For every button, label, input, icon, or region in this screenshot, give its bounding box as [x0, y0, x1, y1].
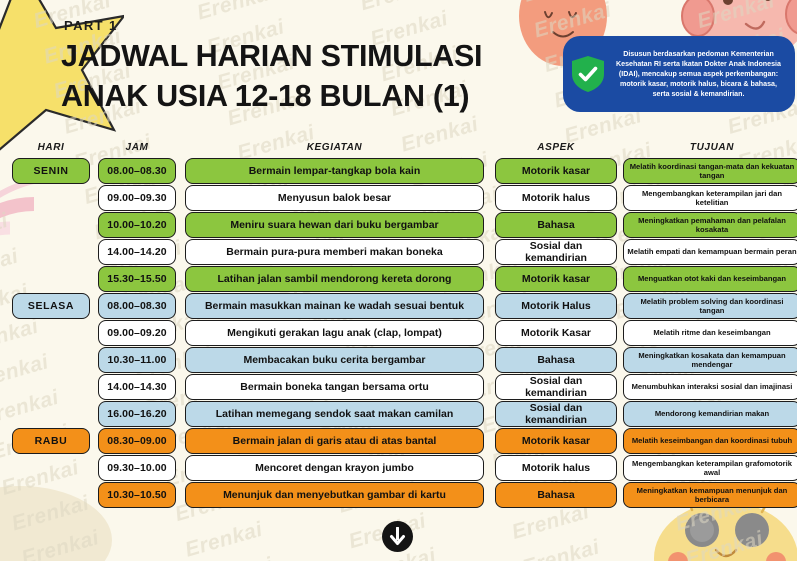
- aspect-cell: Motorik kasar: [495, 266, 617, 292]
- aspect-pill[interactable]: Motorik halus: [495, 455, 617, 481]
- aspect-cell: Sosial dan kemandirian: [495, 374, 617, 400]
- goal-text: Melatih ritme dan keseimbangan: [653, 328, 770, 337]
- table-body: SENIN08.00–08.30Bermain lempar-tangkap b…: [0, 158, 797, 508]
- page-title: JADWAL HARIAN STIMULASI ANAK USIA 12-18 …: [61, 36, 581, 117]
- time-text: 09.30–10.00: [107, 462, 167, 474]
- aspect-cell: Motorik kasar: [495, 158, 617, 184]
- time-cell: 10.00–10.20: [98, 212, 176, 238]
- aspect-cell: Bahasa: [495, 482, 617, 508]
- day-pill: [12, 482, 90, 508]
- time-cell: 09.00–09.30: [98, 185, 176, 211]
- goal-cell: Mengembangkan keterampilan grafomotorik …: [623, 455, 797, 481]
- poster-canvas: ErenkaiErenkaiErenkaiErenkaiErenkaiErenk…: [0, 0, 797, 561]
- goal-text: Meningkatkan kemampuan menunjuk dan berb…: [627, 486, 797, 504]
- time-pill[interactable]: 08.00–08.30: [98, 158, 176, 184]
- time-pill[interactable]: 10.30–11.00: [98, 347, 176, 373]
- activity-cell: Bermain boneka tangan bersama ortu: [185, 374, 484, 400]
- aspect-pill[interactable]: Bahasa: [495, 482, 617, 508]
- table-header-row: HARI JAM KEGIATAN ASPEK TUJUAN: [0, 136, 797, 158]
- table-row: 09.30–10.00Mencoret dengan krayon jumboM…: [0, 455, 797, 481]
- day-cell: [12, 401, 90, 427]
- table-row: 14.00–14.20Bermain pura-pura memberi mak…: [0, 239, 797, 265]
- activity-pill[interactable]: Bermain boneka tangan bersama ortu: [185, 374, 484, 400]
- table-row: 10.30–11.00Membacakan buku cerita bergam…: [0, 347, 797, 373]
- aspect-pill[interactable]: Motorik Kasar: [495, 320, 617, 346]
- activity-text: Membacakan buku cerita bergambar: [243, 354, 425, 366]
- activity-text: Menyusun balok besar: [278, 192, 391, 204]
- title-line-2: ANAK USIA 12-18 BULAN (1): [61, 76, 581, 116]
- day-text: RABU: [35, 435, 68, 447]
- schedule-table: HARI JAM KEGIATAN ASPEK TUJUAN SENIN08.0…: [0, 136, 797, 509]
- aspect-cell: Bahasa: [495, 212, 617, 238]
- day-pill[interactable]: SENIN: [12, 158, 90, 184]
- activity-cell: Bermain pura-pura memberi makan boneka: [185, 239, 484, 265]
- arrow-down-icon[interactable]: [382, 521, 413, 552]
- time-pill[interactable]: 16.00–16.20: [98, 401, 176, 427]
- time-pill[interactable]: 09.00–09.20: [98, 320, 176, 346]
- goal-cell: Melatih empati dan kemampuan bermain per…: [623, 239, 797, 265]
- activity-pill[interactable]: Bermain masukkan mainan ke wadah sesuai …: [185, 293, 484, 319]
- time-text: 14.00–14.20: [107, 246, 167, 258]
- table-row: RABU08.30–09.00Bermain jalan di garis at…: [0, 428, 797, 454]
- time-cell: 14.00–14.20: [98, 239, 176, 265]
- time-pill[interactable]: 08.30–09.00: [98, 428, 176, 454]
- column-header-kegiatan: KEGIATAN: [185, 142, 484, 153]
- activity-pill[interactable]: Mengikuti gerakan lagu anak (clap, lompa…: [185, 320, 484, 346]
- aspect-text: Sosial dan kemandirian: [499, 402, 613, 426]
- aspect-pill[interactable]: Motorik halus: [495, 185, 617, 211]
- table-row: 15.30–15.50Latihan jalan sambil mendoron…: [0, 266, 797, 292]
- aspect-pill[interactable]: Motorik kasar: [495, 266, 617, 292]
- goal-pill[interactable]: Mengembangkan keterampilan grafomotorik …: [623, 455, 797, 481]
- activity-text: Meniru suara hewan dari buku bergambar: [230, 219, 438, 231]
- aspect-pill[interactable]: Sosial dan kemandirian: [495, 239, 617, 265]
- goal-cell: Mengembangkan keterampilan jari dan kete…: [623, 185, 797, 211]
- goal-pill[interactable]: Menumbuhkan interaksi sosial dan imajina…: [623, 374, 797, 400]
- activity-cell: Latihan memegang sendok saat makan camil…: [185, 401, 484, 427]
- aspect-text: Motorik kasar: [522, 165, 590, 177]
- info-badge-text: Disusun berdasarkan pedoman Kementerian …: [611, 49, 786, 99]
- aspect-text: Motorik Halus: [521, 300, 590, 312]
- time-cell: 14.00–14.30: [98, 374, 176, 400]
- column-header-aspek: ASPEK: [495, 142, 617, 153]
- activity-cell: Bermain jalan di garis atau di atas bant…: [185, 428, 484, 454]
- aspect-cell: Sosial dan kemandirian: [495, 401, 617, 427]
- table-row: SELASA08.00–08.30Bermain masukkan mainan…: [0, 293, 797, 319]
- day-cell: SENIN: [12, 158, 90, 184]
- goal-text: Menumbuhkan interaksi sosial dan imajina…: [632, 382, 793, 391]
- time-text: 10.30–11.00: [108, 354, 167, 366]
- day-pill: [12, 401, 90, 427]
- day-text: SENIN: [33, 165, 68, 177]
- table-row: 09.00–09.20Mengikuti gerakan lagu anak (…: [0, 320, 797, 346]
- activity-cell: Bermain masukkan mainan ke wadah sesuai …: [185, 293, 484, 319]
- time-text: 08.30–09.00: [107, 435, 167, 447]
- day-cell: [12, 266, 90, 292]
- day-pill: [12, 266, 90, 292]
- day-pill: [12, 347, 90, 373]
- activity-pill[interactable]: Bermain jalan di garis atau di atas bant…: [185, 428, 484, 454]
- day-pill: [12, 455, 90, 481]
- day-cell: [12, 212, 90, 238]
- table-row: 10.00–10.20Meniru suara hewan dari buku …: [0, 212, 797, 238]
- aspect-text: Bahasa: [537, 489, 574, 501]
- day-cell: [12, 185, 90, 211]
- time-cell: 10.30–10.50: [98, 482, 176, 508]
- table-row: SENIN08.00–08.30Bermain lempar-tangkap b…: [0, 158, 797, 184]
- goal-text: Mengembangkan keterampilan grafomotorik …: [627, 459, 797, 477]
- part-label: PART 1: [64, 18, 118, 33]
- day-cell: [12, 320, 90, 346]
- activity-cell: Membacakan buku cerita bergambar: [185, 347, 484, 373]
- aspect-pill[interactable]: Bahasa: [495, 212, 617, 238]
- time-cell: 09.30–10.00: [98, 455, 176, 481]
- activity-pill[interactable]: Latihan memegang sendok saat makan camil…: [185, 401, 484, 427]
- aspect-cell: Motorik kasar: [495, 428, 617, 454]
- day-pill: [12, 374, 90, 400]
- activity-pill[interactable]: Meniru suara hewan dari buku bergambar: [185, 212, 484, 238]
- day-pill[interactable]: SELASA: [12, 293, 90, 319]
- goal-cell: Meningkatkan pemahaman dan pelafalan kos…: [623, 212, 797, 238]
- activity-text: Menunjuk dan menyebutkan gambar di kartu: [223, 489, 446, 501]
- shield-check-icon: [571, 55, 605, 93]
- time-pill[interactable]: 14.00–14.30: [98, 374, 176, 400]
- day-pill: [12, 320, 90, 346]
- activity-pill[interactable]: Bermain pura-pura memberi makan boneka: [185, 239, 484, 265]
- column-header-jam: JAM: [98, 142, 176, 153]
- goal-text: Melatih empati dan kemampuan bermain per…: [627, 247, 796, 256]
- goal-text: Meningkatkan kosakata dan kemampuan mend…: [627, 351, 797, 369]
- goal-pill[interactable]: Mengembangkan keterampilan jari dan kete…: [623, 185, 797, 211]
- aspect-text: Motorik kasar: [522, 435, 590, 447]
- activity-pill[interactable]: Membacakan buku cerita bergambar: [185, 347, 484, 373]
- aspect-pill[interactable]: Motorik kasar: [495, 158, 617, 184]
- time-text: 09.00–09.30: [107, 192, 167, 204]
- activity-cell: Meniru suara hewan dari buku bergambar: [185, 212, 484, 238]
- activity-cell: Menunjuk dan menyebutkan gambar di kartu: [185, 482, 484, 508]
- time-pill[interactable]: 15.30–15.50: [98, 266, 176, 292]
- time-pill[interactable]: 10.30–10.50: [98, 482, 176, 508]
- day-pill[interactable]: RABU: [12, 428, 90, 454]
- activity-text: Bermain pura-pura memberi makan boneka: [226, 246, 443, 258]
- aspect-pill[interactable]: Motorik Halus: [495, 293, 617, 319]
- goal-text: Menguatkan otot kaki dan keseimbangan: [638, 274, 786, 283]
- day-cell: SELASA: [12, 293, 90, 319]
- goal-cell: Menumbuhkan interaksi sosial dan imajina…: [623, 374, 797, 400]
- activity-pill[interactable]: Bermain lempar-tangkap bola kain: [185, 158, 484, 184]
- time-pill[interactable]: 08.00–08.30: [98, 293, 176, 319]
- time-pill[interactable]: 09.00–09.30: [98, 185, 176, 211]
- time-pill[interactable]: 09.30–10.00: [98, 455, 176, 481]
- aspect-cell: Motorik Kasar: [495, 320, 617, 346]
- activity-cell: Bermain lempar-tangkap bola kain: [185, 158, 484, 184]
- goal-cell: Melatih ritme dan keseimbangan: [623, 320, 797, 346]
- table-row: 16.00–16.20Latihan memegang sendok saat …: [0, 401, 797, 427]
- goal-pill[interactable]: Meningkatkan kemampuan menunjuk dan berb…: [623, 482, 797, 508]
- goal-pill[interactable]: Melatih keseimbangan dan koordinasi tubu…: [623, 428, 797, 454]
- goal-cell: Menguatkan otot kaki dan keseimbangan: [623, 266, 797, 292]
- goal-pill[interactable]: Meningkatkan kosakata dan kemampuan mend…: [623, 347, 797, 373]
- goal-text: Melatih keseimbangan dan koordinasi tubu…: [632, 436, 792, 445]
- goal-cell: Melatih problem solving dan koordinasi t…: [623, 293, 797, 319]
- activity-pill[interactable]: Mencoret dengan krayon jumbo: [185, 455, 484, 481]
- time-cell: 08.00–08.30: [98, 158, 176, 184]
- activity-text: Latihan memegang sendok saat makan camil…: [216, 408, 454, 420]
- time-cell: 08.30–09.00: [98, 428, 176, 454]
- aspect-cell: Motorik Halus: [495, 293, 617, 319]
- aspect-text: Motorik Kasar: [521, 327, 591, 339]
- time-text: 10.30–10.50: [107, 489, 167, 501]
- column-header-hari: HARI: [12, 142, 90, 153]
- time-text: 08.00–08.30: [107, 300, 167, 312]
- time-text: 10.00–10.20: [107, 219, 167, 231]
- aspect-text: Bahasa: [537, 354, 574, 366]
- table-row: 10.30–10.50Menunjuk dan menyebutkan gamb…: [0, 482, 797, 508]
- activity-text: Bermain lempar-tangkap bola kain: [249, 165, 421, 177]
- goal-pill[interactable]: Melatih ritme dan keseimbangan: [623, 320, 797, 346]
- day-cell: RABU: [12, 428, 90, 454]
- arrow-down-glyph: [389, 527, 406, 546]
- time-cell: 09.00–09.20: [98, 320, 176, 346]
- goal-text: Mendorong kemandirian makan: [655, 409, 769, 418]
- goal-pill[interactable]: Melatih empati dan kemampuan bermain per…: [623, 239, 797, 265]
- activity-pill[interactable]: Menyusun balok besar: [185, 185, 484, 211]
- day-text: SELASA: [28, 300, 74, 312]
- time-text: 08.00–08.30: [107, 165, 167, 177]
- aspect-pill[interactable]: Sosial dan kemandirian: [495, 401, 617, 427]
- goal-text: Meningkatkan pemahaman dan pelafalan kos…: [627, 216, 797, 234]
- time-text: 09.00–09.20: [107, 327, 167, 339]
- time-cell: 10.30–11.00: [98, 347, 176, 373]
- goal-pill[interactable]: Meningkatkan pemahaman dan pelafalan kos…: [623, 212, 797, 238]
- time-pill[interactable]: 14.00–14.20: [98, 239, 176, 265]
- day-cell: [12, 347, 90, 373]
- aspect-cell: Motorik halus: [495, 185, 617, 211]
- day-cell: [12, 239, 90, 265]
- aspect-text: Motorik halus: [522, 192, 590, 204]
- time-cell: 08.00–08.30: [98, 293, 176, 319]
- goal-pill[interactable]: Menguatkan otot kaki dan keseimbangan: [623, 266, 797, 292]
- day-pill: [12, 212, 90, 238]
- time-text: 15.30–15.50: [107, 273, 167, 285]
- aspect-text: Motorik kasar: [522, 273, 590, 285]
- goal-pill[interactable]: Mendorong kemandirian makan: [623, 401, 797, 427]
- goal-pill[interactable]: Melatih koordinasi tangan-mata dan kekua…: [623, 158, 797, 184]
- table-row: 14.00–14.30Bermain boneka tangan bersama…: [0, 374, 797, 400]
- goal-cell: Mendorong kemandirian makan: [623, 401, 797, 427]
- info-badge: Disusun berdasarkan pedoman Kementerian …: [563, 36, 795, 112]
- aspect-pill[interactable]: Bahasa: [495, 347, 617, 373]
- goal-text: Melatih problem solving dan koordinasi t…: [627, 297, 797, 315]
- goal-text: Melatih koordinasi tangan-mata dan kekua…: [627, 162, 797, 180]
- activity-text: Latihan jalan sambil mendorong kereta do…: [218, 273, 452, 285]
- activity-text: Bermain jalan di garis atau di atas bant…: [233, 435, 437, 447]
- column-header-tujuan: TUJUAN: [623, 142, 797, 153]
- aspect-text: Sosial dan kemandirian: [499, 240, 613, 264]
- time-cell: 16.00–16.20: [98, 401, 176, 427]
- aspect-pill[interactable]: Motorik kasar: [495, 428, 617, 454]
- goal-cell: Melatih keseimbangan dan koordinasi tubu…: [623, 428, 797, 454]
- activity-text: Mencoret dengan krayon jumbo: [255, 462, 414, 474]
- table-row: 09.00–09.30Menyusun balok besarMotorik h…: [0, 185, 797, 211]
- day-cell: [12, 374, 90, 400]
- goal-cell: Meningkatkan kosakata dan kemampuan mend…: [623, 347, 797, 373]
- day-pill: [12, 239, 90, 265]
- title-line-1: JADWAL HARIAN STIMULASI: [61, 36, 581, 76]
- aspect-text: Motorik halus: [522, 462, 590, 474]
- activity-text: Mengikuti gerakan lagu anak (clap, lompa…: [227, 327, 442, 339]
- aspect-pill[interactable]: Sosial dan kemandirian: [495, 374, 617, 400]
- activity-text: Bermain masukkan mainan ke wadah sesuai …: [205, 300, 464, 312]
- day-cell: [12, 455, 90, 481]
- activity-cell: Menyusun balok besar: [185, 185, 484, 211]
- activity-pill[interactable]: Latihan jalan sambil mendorong kereta do…: [185, 266, 484, 292]
- activity-cell: Mencoret dengan krayon jumbo: [185, 455, 484, 481]
- time-pill[interactable]: 10.00–10.20: [98, 212, 176, 238]
- goal-cell: Melatih koordinasi tangan-mata dan kekua…: [623, 158, 797, 184]
- goal-pill[interactable]: Melatih problem solving dan koordinasi t…: [623, 293, 797, 319]
- day-cell: [12, 482, 90, 508]
- time-cell: 15.30–15.50: [98, 266, 176, 292]
- time-text: 14.00–14.30: [107, 381, 167, 393]
- time-text: 16.00–16.20: [107, 408, 167, 420]
- goal-text: Mengembangkan keterampilan jari dan kete…: [627, 189, 797, 207]
- activity-cell: Mengikuti gerakan lagu anak (clap, lompa…: [185, 320, 484, 346]
- goal-cell: Meningkatkan kemampuan menunjuk dan berb…: [623, 482, 797, 508]
- aspect-text: Bahasa: [537, 219, 574, 231]
- aspect-text: Sosial dan kemandirian: [499, 375, 613, 399]
- activity-text: Bermain boneka tangan bersama ortu: [240, 381, 428, 393]
- aspect-cell: Sosial dan kemandirian: [495, 239, 617, 265]
- aspect-cell: Motorik halus: [495, 455, 617, 481]
- activity-pill[interactable]: Menunjuk dan menyebutkan gambar di kartu: [185, 482, 484, 508]
- aspect-cell: Bahasa: [495, 347, 617, 373]
- day-pill: [12, 185, 90, 211]
- activity-cell: Latihan jalan sambil mendorong kereta do…: [185, 266, 484, 292]
